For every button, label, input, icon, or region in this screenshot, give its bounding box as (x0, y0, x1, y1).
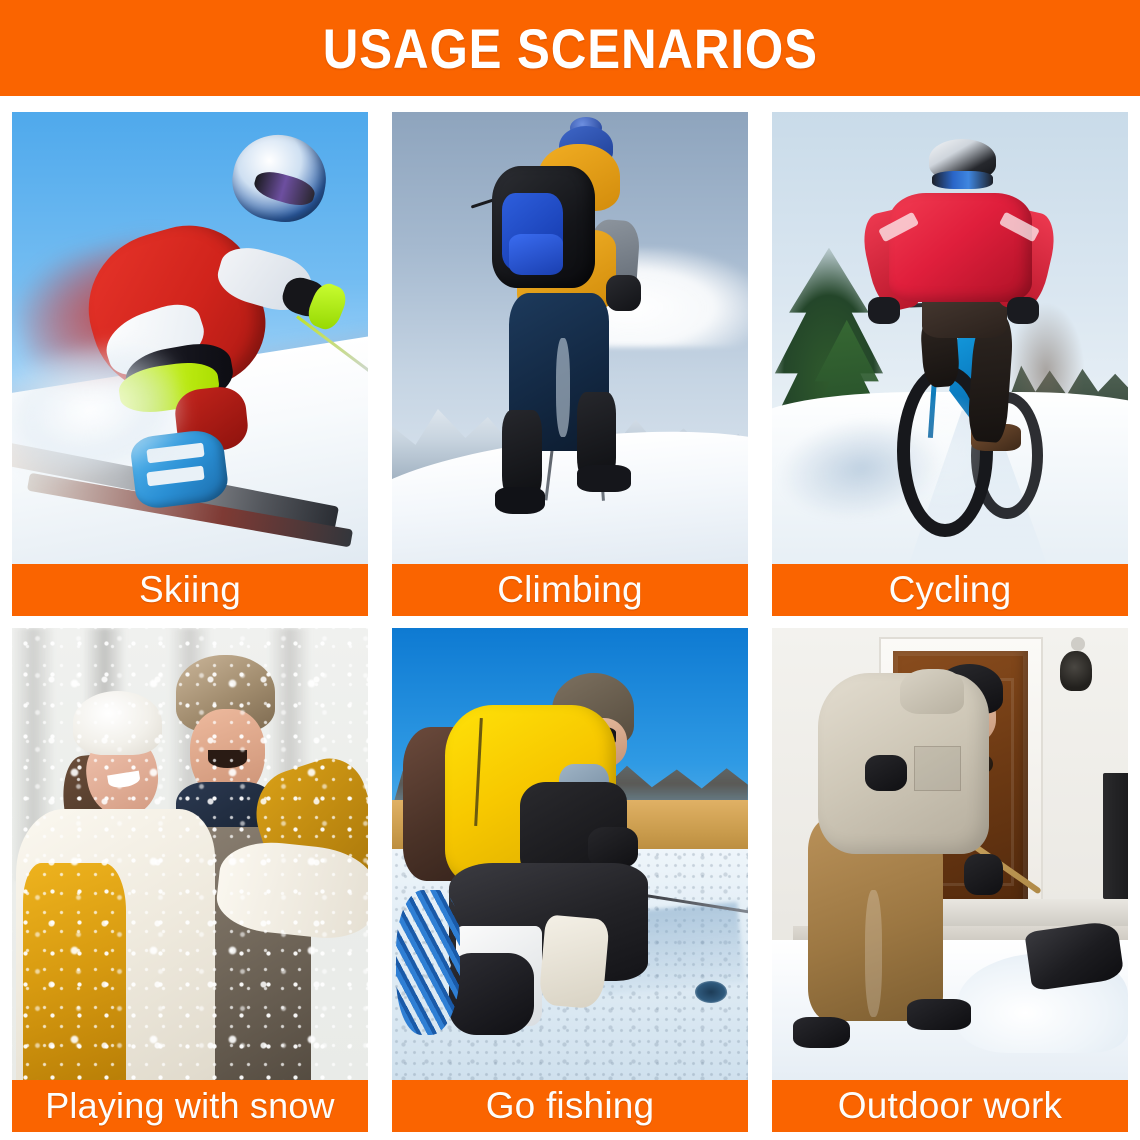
scenario-label-playing-with-snow: Playing with snow (12, 1080, 368, 1132)
scenario-card-climbing[interactable]: Climbing (392, 112, 748, 616)
scenario-label-cycling: Cycling (772, 564, 1128, 616)
scenario-label-climbing: Climbing (392, 564, 748, 616)
scenario-label-go-fishing: Go fishing (392, 1080, 748, 1132)
scenario-card-playing-with-snow[interactable]: Playing with snow (12, 628, 368, 1132)
scenario-label-text: Cycling (889, 569, 1012, 611)
backpack-blue-pocket (509, 234, 562, 275)
scenario-label-skiing: Skiing (12, 564, 368, 616)
falling-snow-large (12, 628, 368, 1080)
white-cloth (538, 915, 610, 1011)
scenario-card-skiing[interactable]: Skiing (12, 112, 368, 616)
ice-hole (695, 981, 727, 1004)
chest-pocket (914, 746, 960, 791)
scenario-grid: Skiing (12, 112, 1128, 1132)
scenario-label-text: Skiing (139, 569, 241, 611)
scenario-card-cycling[interactable]: Cycling (772, 112, 1128, 616)
blue-rope-coil (396, 890, 460, 1035)
cycling-glove-left (868, 297, 900, 324)
scenario-label-outdoor-work: Outdoor work (772, 1080, 1128, 1132)
fishing-glove (588, 827, 638, 868)
scenario-photo-playing-with-snow (12, 628, 368, 1080)
cycling-sunglasses (932, 171, 993, 189)
work-glove-lower (964, 854, 1003, 895)
page-title: USAGE SCENARIOS (322, 16, 817, 81)
scenario-photo-go-fishing (392, 628, 748, 1080)
metal-railing (1103, 773, 1128, 900)
work-glove-upper (865, 755, 908, 791)
scenario-photo-skiing (12, 112, 368, 564)
boot-left (793, 1017, 850, 1049)
boot-left (495, 487, 545, 514)
wall-sensor (1071, 637, 1085, 651)
winter-boot (449, 953, 534, 1034)
scenario-photo-climbing (392, 112, 748, 564)
scenario-photo-cycling (772, 112, 1128, 564)
leg-gap (556, 338, 570, 437)
jacket-hood (900, 669, 964, 714)
scenario-label-text: Outdoor work (838, 1085, 1063, 1127)
scenario-label-text: Climbing (497, 569, 643, 611)
scenario-card-outdoor-work[interactable]: Outdoor work (772, 628, 1128, 1132)
scenario-photo-outdoor-work (772, 628, 1128, 1080)
scenario-card-go-fishing[interactable]: Go fishing (392, 628, 748, 1132)
scenario-label-text: Go fishing (486, 1085, 655, 1127)
porch-lamp (1060, 651, 1092, 692)
scenario-label-text: Playing with snow (45, 1085, 335, 1127)
boot-right (577, 465, 630, 492)
boot-right (907, 999, 971, 1031)
cycling-glove-right (1007, 297, 1039, 324)
header-banner: USAGE SCENARIOS (0, 0, 1140, 96)
climbing-glove (606, 275, 642, 311)
red-cycling-jacket (889, 193, 1031, 301)
leg-gap (865, 890, 883, 1017)
